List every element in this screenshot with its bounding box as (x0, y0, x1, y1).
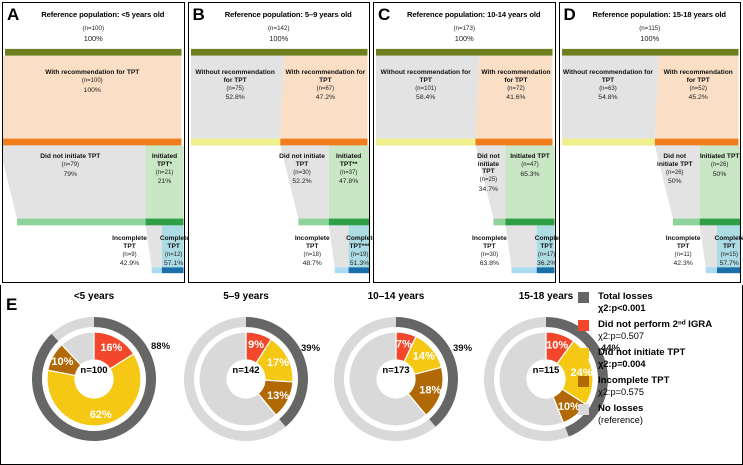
with-recommendation-node: With recommendation for TPT (n=100) 100% (3, 69, 181, 94)
sankey-panel-row: A Reference population: <5 years old (n=… (0, 0, 743, 285)
figure-root: A Reference population: <5 years old (n=… (0, 0, 743, 465)
legend-pvalue: χ2:p=0.507 (598, 330, 741, 342)
panel-title: Reference population: 10-14 years old (396, 10, 552, 19)
donut-center-label: n=142 (171, 365, 321, 376)
incomplete-node: Incomplete TPT (n=9) 42.9% (107, 235, 151, 268)
svg-text:18%: 18% (419, 385, 441, 397)
donut-chart: <5 years 16%62%10% n=100 (19, 291, 169, 461)
svg-text:7%: 7% (396, 338, 412, 350)
legend-swatch (578, 292, 589, 303)
panel-b: B Reference population: 5–9 years old (n… (188, 2, 371, 283)
donut-chart: 10–14 years 7%14%18% n=173 (321, 291, 471, 461)
svg-text:13%: 13% (267, 390, 289, 402)
donut-center-label: n=100 (19, 365, 169, 376)
reference-population-pct: 100% (560, 34, 741, 43)
without-recommendation-node: Without recommendation for TPT (n=75) 52… (191, 69, 280, 102)
panel-letter: D (564, 6, 576, 23)
did-not-initiate-node: Did not initiate TPT (n=26) 50% (652, 153, 697, 186)
panel-letter-e: E (6, 295, 17, 315)
legend-pvalue: χ2:p=0.004 (598, 358, 741, 370)
did-not-initiate-node: Did not initiate TPT (n=30) 52.2% (278, 153, 326, 186)
with-recommendation-node: With recommendation for TPT (n=67) 47.2% (284, 69, 367, 102)
donut-title: <5 years (19, 291, 169, 302)
donut-svg: 16%62%10% (24, 307, 164, 455)
reference-population-n: (n=115) (560, 25, 741, 32)
donut-svg: 9%17%13% (176, 307, 316, 455)
initiated-node: Initiated TPT (n=47) 65.3% (505, 153, 554, 178)
legend-item: Incomplete TPT χ2:p=0.575 (576, 375, 741, 398)
without-recommendation-node: Without recommendation for TPT (n=101) 5… (376, 69, 475, 102)
legend-label: Did not perform 2ⁿᵈ IGRA (598, 319, 741, 330)
initiated-node: Initiated TPT* (n=21) 21% (146, 153, 184, 186)
incomplete-node: Incomplete TPT (n=11) 42.3% (661, 235, 705, 268)
with-recommendation-node: With recommendation for TPT (n=52) 45.2% (658, 69, 738, 102)
incomplete-node: Incomplete TPT (n=30) 63.8% (467, 235, 511, 268)
legend-item: Did not initiate TPT χ2:p=0.004 (576, 347, 741, 370)
did-not-initiate-node: Did not initiate TPT (n=25) 34.7% (473, 153, 503, 193)
without-recommendation-node: Without recommendation for TPT (n=63) 54… (562, 69, 655, 102)
legend-swatch (578, 348, 589, 359)
legend-item: Total losses χ2:p<0.001 (576, 291, 741, 314)
donut-center-label: n=173 (321, 365, 471, 376)
donut-title: 10–14 years (321, 291, 471, 302)
initiated-node: Initiated TPT (n=26) 50% (699, 153, 740, 178)
svg-text:10%: 10% (546, 339, 568, 351)
panel-title: Reference population: 5–9 years old (211, 10, 367, 19)
donut-chart: 5–9 years 9%17%13% n=142 (171, 291, 321, 461)
panel-c: C Reference population: 10-14 years old … (373, 2, 556, 283)
donut-outer-label: 39% (453, 343, 472, 354)
legend-label: Incomplete TPT (598, 375, 741, 386)
donut-svg: 7%14%18% (326, 307, 466, 455)
legend-pvalue: χ2:p<0.001 (598, 302, 741, 314)
reference-population-n: (n=173) (374, 25, 555, 32)
donut-outer-label: 39% (301, 343, 320, 354)
initiated-node: Initiated TPT** (n=37) 47.8% (328, 153, 369, 186)
panel-a: A Reference population: <5 years old (n=… (2, 2, 185, 283)
legend-pvalue: (reference) (598, 414, 741, 426)
reference-population-pct: 100% (3, 34, 184, 43)
legend-label: Total losses (598, 291, 741, 302)
legend-swatch (578, 404, 589, 415)
incomplete-node: Incomplete TPT (n=18) 48.7% (290, 235, 334, 268)
reference-population-n: (n=100) (3, 25, 184, 32)
svg-text:14%: 14% (413, 351, 435, 363)
panel-title: Reference population: <5 years old (25, 10, 181, 19)
completed-node: Completed TPT*** (n=19) 51.3% (346, 235, 373, 268)
reference-population-pct: 100% (374, 34, 555, 43)
donut-title: 5–9 years (171, 291, 321, 302)
legend-item: No losses (reference) (576, 403, 741, 426)
donut-outer-label: 88% (151, 341, 170, 352)
legend-label: Did not initiate TPT (598, 347, 741, 358)
completed-node: Completed TPT (n=17) 36.2% (535, 235, 559, 268)
panel-d: D Reference population: 15-18 years old … (559, 2, 742, 283)
reference-population-pct: 100% (189, 34, 370, 43)
legend-swatch (578, 320, 589, 331)
completed-node: Completed TPT (n=15) 57.7% (714, 235, 743, 268)
svg-text:9%: 9% (248, 339, 264, 351)
legend-pvalue: χ2:p=0.575 (598, 386, 741, 398)
panel-letter: B (193, 6, 205, 23)
legend-swatch (578, 376, 589, 387)
svg-text:62%: 62% (90, 409, 112, 421)
legend-label: No losses (598, 403, 741, 414)
legend-item: Did not perform 2ⁿᵈ IGRA χ2:p=0.507 (576, 319, 741, 342)
svg-text:16%: 16% (100, 342, 122, 354)
panel-letter: C (378, 6, 390, 23)
with-recommendation-node: With recommendation for TPT (n=72) 41.6% (479, 69, 552, 102)
panel-e: E <5 years 16%62%10% n=10088% 5–9 years … (0, 285, 743, 465)
panel-title: Reference population: 15-18 years old (582, 10, 738, 19)
legend: Total losses χ2:p<0.001 Did not perform … (576, 291, 741, 431)
did-not-initiate-node: Did not initiate TPT (n=79) 79% (0, 153, 144, 178)
panel-letter: A (7, 6, 19, 23)
reference-population-n: (n=142) (189, 25, 370, 32)
completed-node: Completed TPT (n=12) 57.1% (160, 235, 188, 268)
